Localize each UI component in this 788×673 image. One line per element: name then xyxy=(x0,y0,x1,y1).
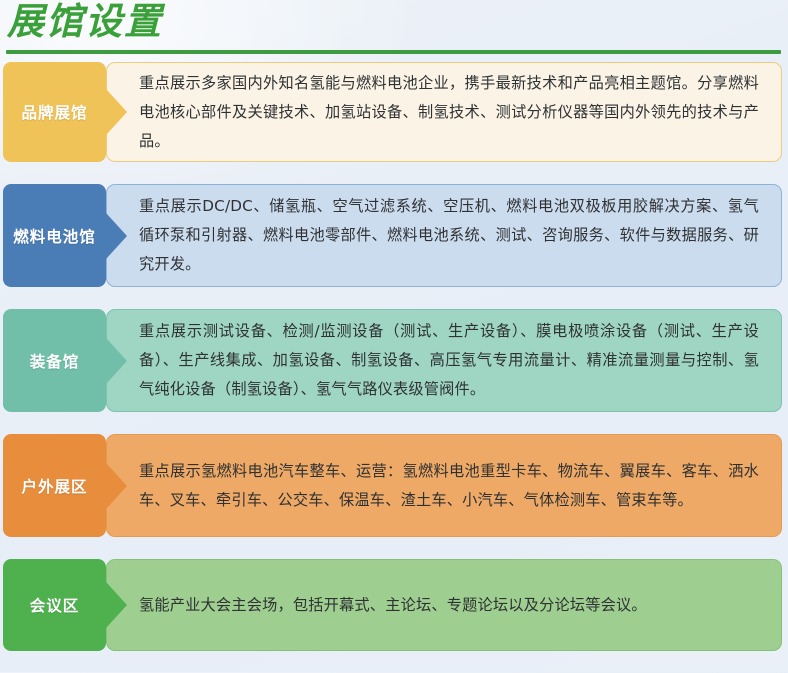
section-content-panel: 氢能产业大会主会场，包括开幕式、主论坛、专题论坛以及分论坛等会议。 xyxy=(106,559,782,651)
section-label-equipment-hall: 装备馆 xyxy=(3,309,106,412)
exhibition-setup-page: 展馆设置 重点展示多家国内外知名氢能与燃料电池企业，携手最新技术和产品亮相主题馆… xyxy=(0,0,788,672)
section-description: 重点展示多家国内外知名氢能与燃料电池企业，携手最新技术和产品亮相主题馆。分享燃料… xyxy=(107,69,781,156)
arrow-right-icon xyxy=(106,582,127,628)
section-row-outdoor-area: 重点展示氢燃料电池汽车整车、运营：氢燃料电池重型卡车、物流车、翼展车、客车、洒水… xyxy=(0,434,788,537)
section-row-conference-area: 氢能产业大会主会场，包括开幕式、主论坛、专题论坛以及分论坛等会议。 会议区 xyxy=(0,559,788,651)
section-label-outdoor-area: 户外展区 xyxy=(3,434,106,537)
section-label-brand-pavilion: 品牌展馆 xyxy=(3,62,106,162)
section-content-panel: 重点展示多家国内外知名氢能与燃料电池企业，携手最新技术和产品亮相主题馆。分享燃料… xyxy=(106,62,782,162)
arrow-right-icon xyxy=(106,463,127,509)
section-row-equipment-hall: 重点展示测试设备、检测/监测设备（测试、生产设备）、膜电极喷涂设备（测试、生产设… xyxy=(0,309,788,412)
section-content-panel: 重点展示氢燃料电池汽车整车、运营：氢燃料电池重型卡车、物流车、翼展车、客车、洒水… xyxy=(106,434,782,537)
page-header: 展馆设置 xyxy=(0,0,788,62)
arrow-right-icon xyxy=(106,338,127,384)
section-description: 重点展示DC/DC、储氢瓶、空气过滤系统、空压机、燃料电池双极板用胶解决方案、氢… xyxy=(107,192,781,279)
section-list: 重点展示多家国内外知名氢能与燃料电池企业，携手最新技术和产品亮相主题馆。分享燃料… xyxy=(0,62,788,673)
section-label-text: 会议区 xyxy=(30,594,80,616)
section-label-text: 装备馆 xyxy=(30,350,80,372)
section-label-text: 户外展区 xyxy=(21,475,87,497)
section-content-panel: 重点展示测试设备、检测/监测设备（测试、生产设备）、膜电极喷涂设备（测试、生产设… xyxy=(106,309,782,412)
section-description: 重点展示氢燃料电池汽车整车、运营：氢燃料电池重型卡车、物流车、翼展车、客车、洒水… xyxy=(107,457,781,515)
section-description: 氢能产业大会主会场，包括开幕式、主论坛、专题论坛以及分论坛等会议。 xyxy=(107,591,669,620)
section-label-text: 燃料电池馆 xyxy=(13,225,96,247)
section-content-panel: 重点展示DC/DC、储氢瓶、空气过滤系统、空压机、燃料电池双极板用胶解决方案、氢… xyxy=(106,184,782,287)
title-divider xyxy=(6,50,781,54)
section-label-fuel-cell-hall: 燃料电池馆 xyxy=(3,184,106,287)
section-description: 重点展示测试设备、检测/监测设备（测试、生产设备）、膜电极喷涂设备（测试、生产设… xyxy=(107,317,781,404)
section-row-fuel-cell-hall: 重点展示DC/DC、储氢瓶、空气过滤系统、空压机、燃料电池双极板用胶解决方案、氢… xyxy=(0,184,788,287)
arrow-right-icon xyxy=(106,89,127,135)
section-row-brand-pavilion: 重点展示多家国内外知名氢能与燃料电池企业，携手最新技术和产品亮相主题馆。分享燃料… xyxy=(0,62,788,162)
page-title: 展馆设置 xyxy=(7,1,163,43)
arrow-right-icon xyxy=(106,213,127,259)
section-label-conference-area: 会议区 xyxy=(3,559,106,651)
section-label-text: 品牌展馆 xyxy=(21,101,87,123)
